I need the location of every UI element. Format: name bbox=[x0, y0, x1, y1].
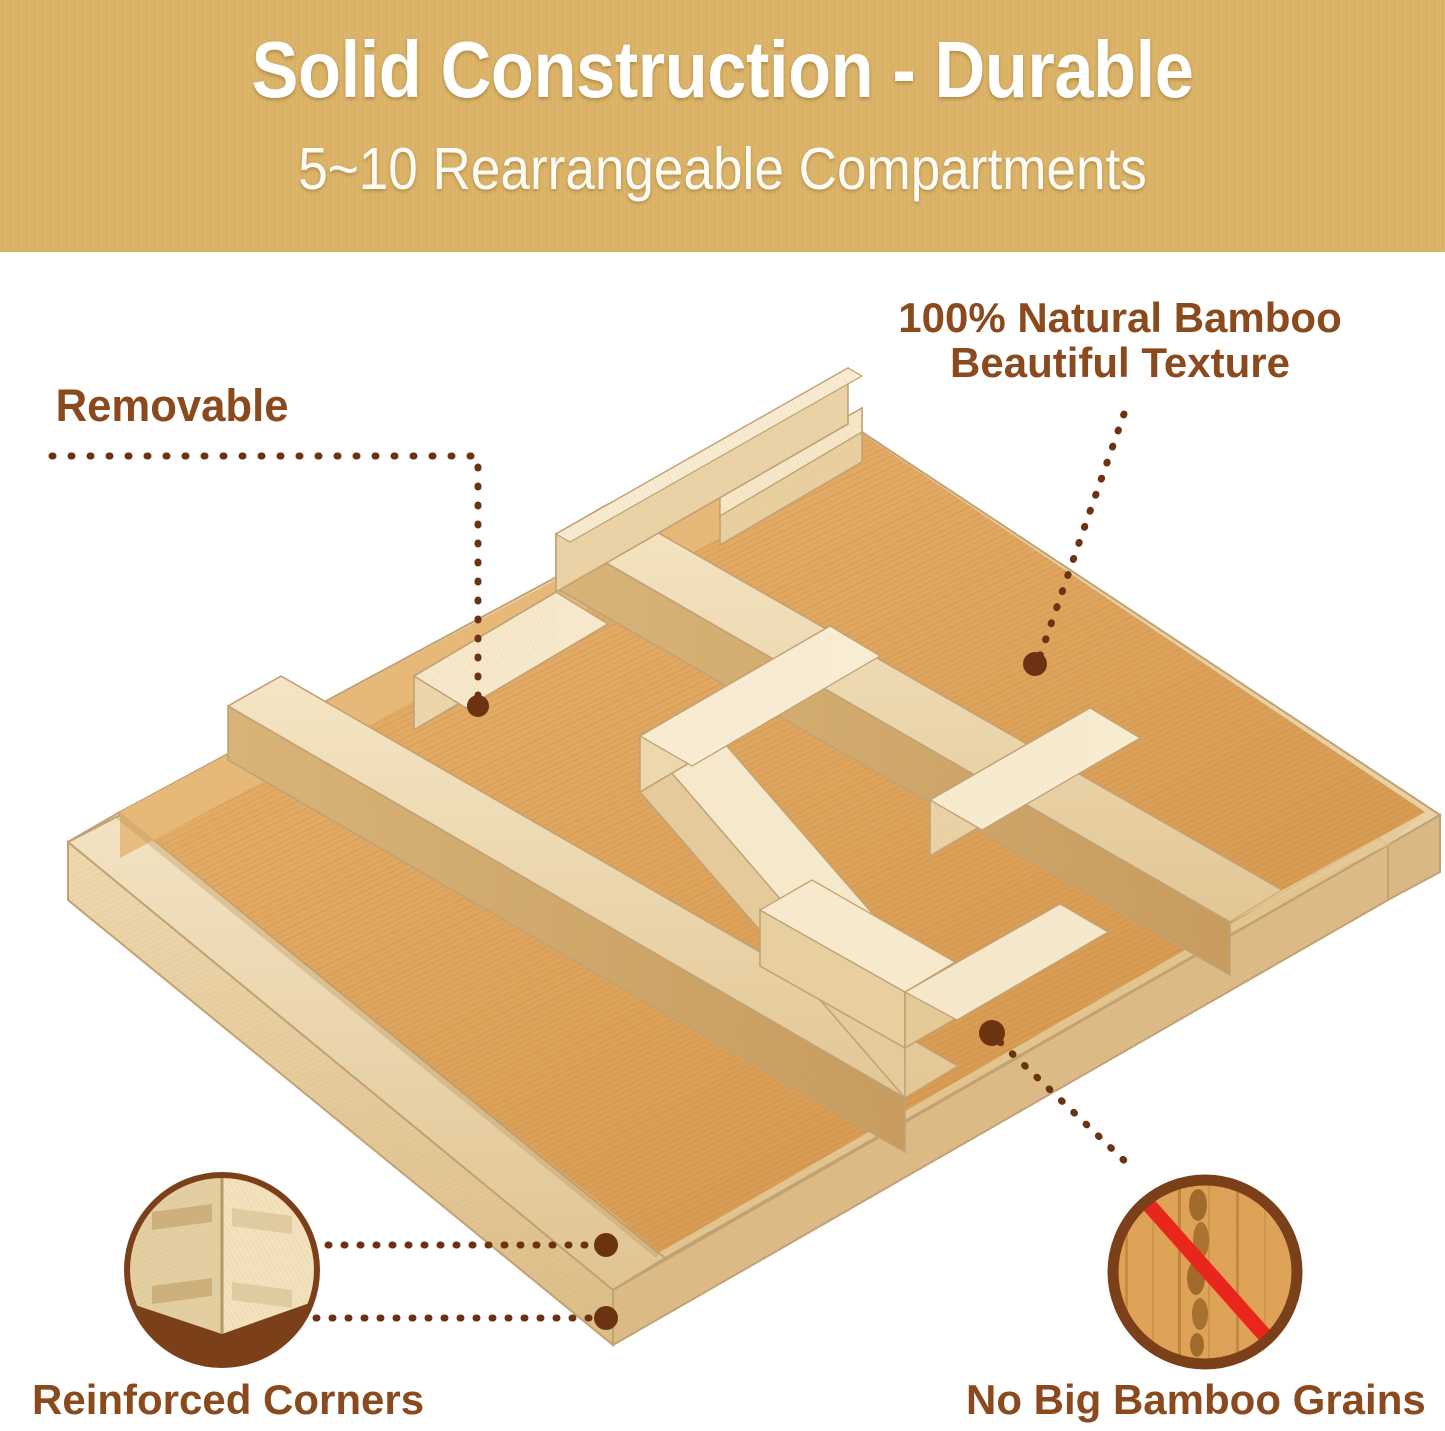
divider-long-middle bbox=[556, 504, 1282, 975]
tray-front-right-wall-grain bbox=[613, 790, 1388, 1290]
divider-cross-middle bbox=[640, 706, 958, 1098]
page-subtitle: 5~10 Rearrangeable Compartments bbox=[72, 140, 1373, 199]
connector-endpoint-corner-bottom bbox=[594, 1306, 618, 1330]
infographic-page: Solid Construction - Durable 5~10 Rearra… bbox=[0, 0, 1445, 1431]
big-grain-streak bbox=[1187, 1189, 1209, 1357]
tray-rim-front-left bbox=[68, 812, 665, 1290]
divider-long-upper bbox=[228, 676, 958, 1152]
tray-base-band bbox=[613, 845, 1388, 1345]
callout-label-removable: Removable bbox=[56, 382, 289, 430]
bamboo-tray bbox=[68, 368, 1440, 1345]
callout-label-reinforced-corners: Reinforced Corners bbox=[32, 1378, 424, 1423]
connector-no-big-grains bbox=[979, 1020, 1132, 1168]
tray-rim-back-right bbox=[848, 432, 1440, 845]
tray-front-right-wall bbox=[613, 790, 1388, 1290]
connector-endpoint-natural-bamboo bbox=[1023, 652, 1047, 676]
inset-reinforced-corner bbox=[126, 1174, 318, 1366]
inset-corner-ring bbox=[126, 1174, 318, 1366]
header-banner: Solid Construction - Durable 5~10 Rearra… bbox=[0, 0, 1445, 252]
corner-right-face bbox=[222, 1174, 318, 1334]
tray-interior-floor bbox=[120, 424, 1425, 1252]
callout-label-no-big-bamboo-grains: No Big Bamboo Grains bbox=[966, 1378, 1426, 1423]
connector-removable bbox=[52, 456, 489, 717]
divider-cross-upper-left bbox=[414, 592, 608, 730]
inset-grain-ring bbox=[1109, 1176, 1301, 1368]
tray-front-left-wall-grain bbox=[68, 842, 613, 1345]
inset-no-big-grain bbox=[1109, 1176, 1301, 1368]
connector-natural-bamboo bbox=[1023, 414, 1124, 676]
callout-label-natural-bamboo: 100% Natural Bamboo Beautiful Texture bbox=[820, 296, 1420, 385]
prohibition-slash bbox=[1140, 1195, 1276, 1348]
inset-grain-ring-outline bbox=[1113, 1180, 1297, 1364]
divider-cross-top-middle bbox=[720, 408, 862, 545]
divider-vert-right-small bbox=[905, 904, 1108, 1048]
connector-endpoint-corner-top bbox=[594, 1233, 618, 1257]
connector-endpoint-no-big-grains bbox=[979, 1020, 1005, 1046]
connector-endpoint-removable bbox=[467, 695, 489, 717]
divider-vert-right-upper bbox=[930, 708, 1140, 856]
corner-left-face bbox=[126, 1174, 222, 1334]
divider-vert-right-lower bbox=[760, 880, 955, 1048]
tray-front-left-wall bbox=[68, 842, 613, 1345]
tray-interior-back-left-wall bbox=[120, 424, 848, 858]
tray-right-outer-wall bbox=[1388, 815, 1440, 900]
connector-reinforced-corners bbox=[300, 1233, 618, 1330]
tray-rim-front-right bbox=[613, 815, 1440, 1290]
divider-cross-upper-middle bbox=[556, 368, 862, 592]
divider-vert-midleft bbox=[640, 626, 880, 792]
page-title: Solid Construction - Durable bbox=[87, 30, 1359, 110]
tray-rim-back-left bbox=[68, 420, 862, 842]
